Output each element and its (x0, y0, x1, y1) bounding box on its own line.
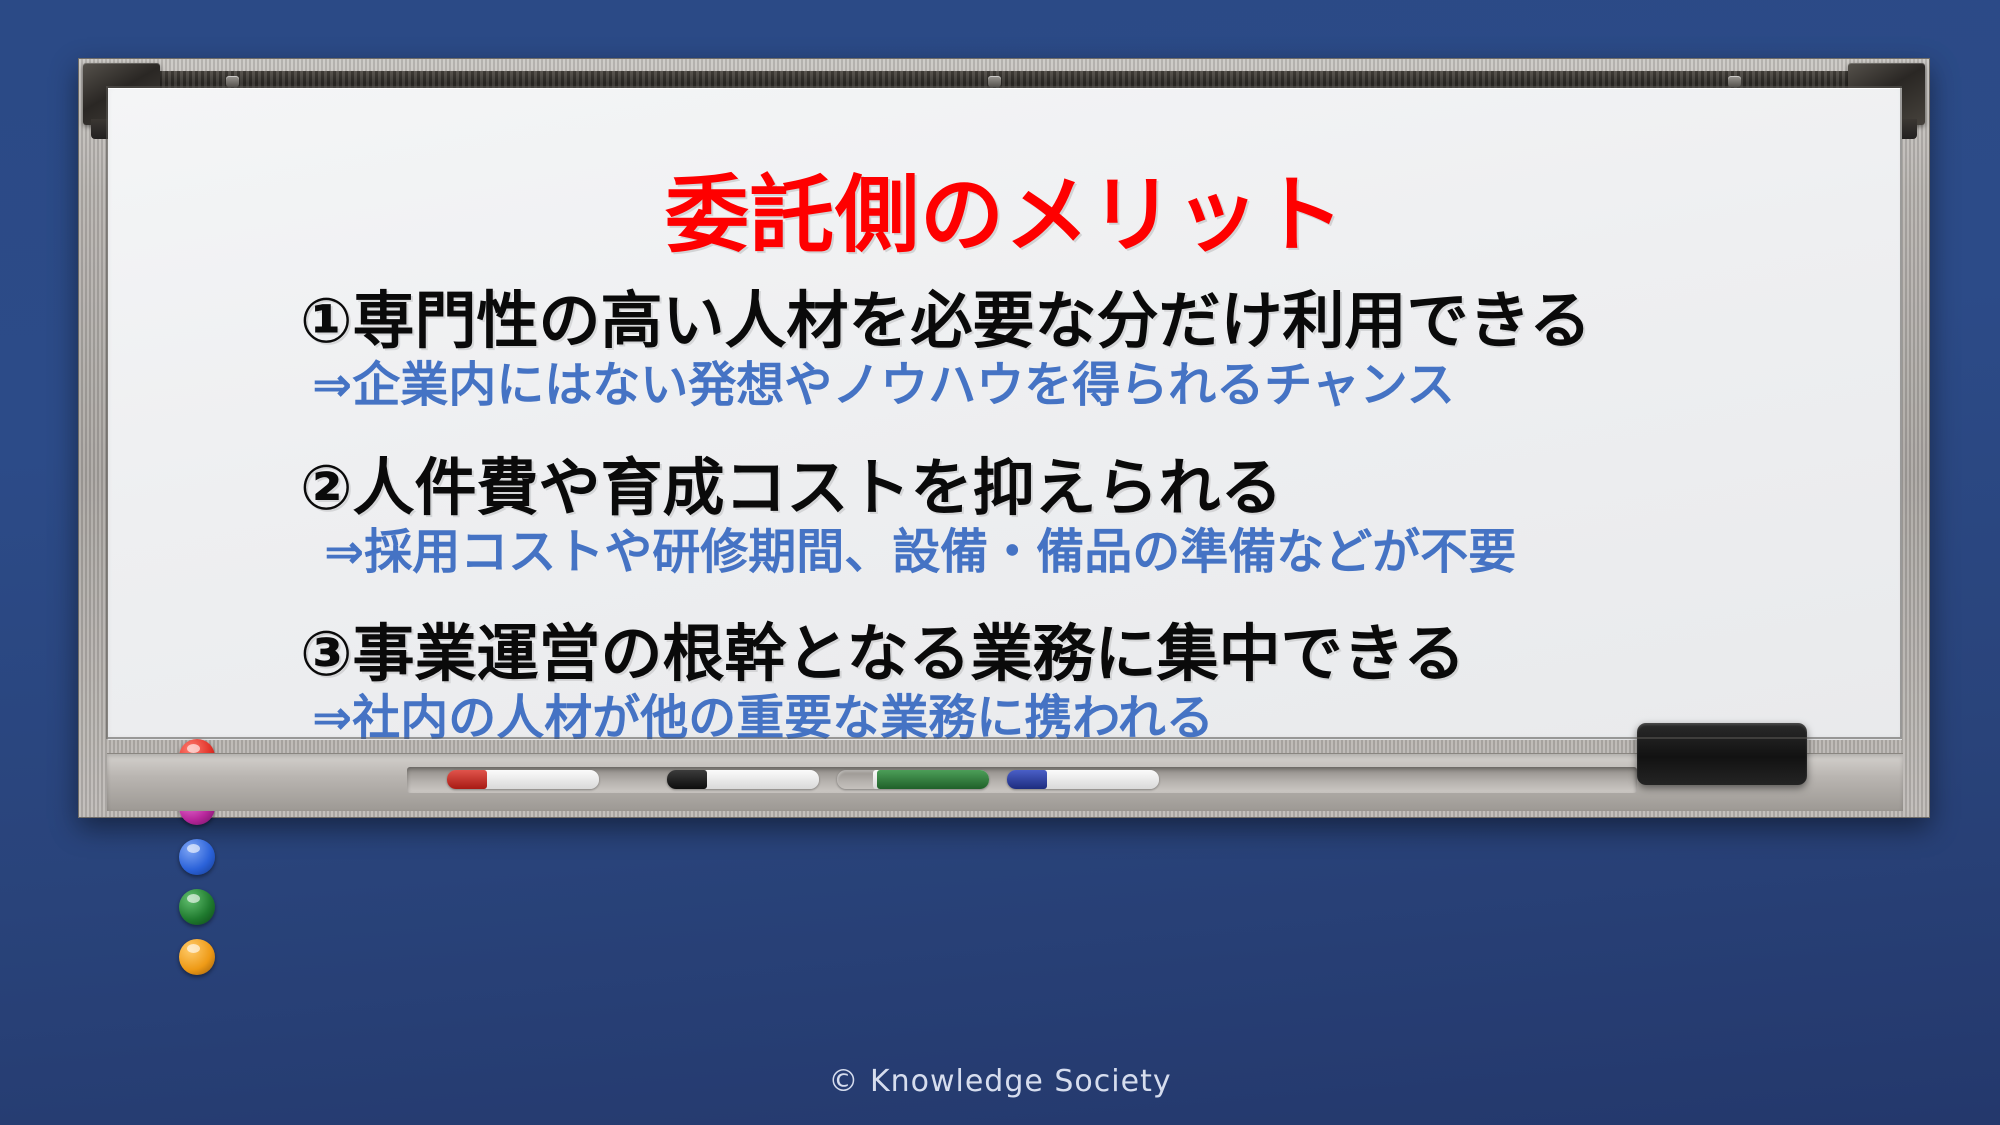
marker-body (1043, 770, 1159, 789)
slide-content: 委託側のメリット ①専門性の高い人材を必要な分だけ利用できる ⇒企業内にはない発… (108, 88, 1902, 740)
benefit-3-sub: ⇒社内の人材が他の重要な業務に携われる (312, 692, 1842, 740)
marker-body (703, 770, 819, 789)
marker-green-icon (837, 770, 989, 789)
list-item: ③事業運営の根幹となる業務に集中できる ⇒社内の人材が他の重要な業務に携われる (300, 621, 1842, 740)
marker-red-icon (447, 770, 599, 789)
benefit-list: ①専門性の高い人材を必要な分だけ利用できる ⇒企業内にはない発想やノウハウを得ら… (300, 288, 1842, 740)
magnet-blue-icon (179, 839, 215, 875)
rail-screw-center (988, 76, 1001, 87)
rail-screw-right (1728, 76, 1741, 87)
benefit-3-main: ③事業運営の根幹となる業務に集中できる (300, 621, 1842, 688)
magnet-orange-icon (179, 939, 215, 975)
marker-cap (1007, 770, 1047, 789)
list-item: ②人件費や育成コストを抑えられる ⇒採用コストや研修期間、設備・備品の準備などが… (300, 455, 1842, 580)
marker-black-icon (667, 770, 819, 789)
whiteboard-tray (107, 753, 1903, 811)
eraser-icon (1637, 723, 1807, 785)
whiteboard-frame: 委託側のメリット ①専門性の高い人材を必要な分だけ利用できる ⇒企業内にはない発… (78, 58, 1930, 818)
slide-canvas: 委託側のメリット ①専門性の高い人材を必要な分だけ利用できる ⇒企業内にはない発… (0, 0, 2000, 1125)
footer-copyright: © Knowledge Society (0, 1064, 2000, 1099)
magnet-green-icon (179, 889, 215, 925)
marker-cap (877, 770, 989, 789)
marker-body (483, 770, 599, 789)
benefit-2-main: ②人件費や育成コストを抑えられる (300, 455, 1842, 522)
marker-blue-icon (1007, 770, 1159, 789)
benefit-2-sub: ⇒採用コストや研修期間、設備・備品の準備などが不要 (324, 526, 1842, 580)
list-item: ①専門性の高い人材を必要な分だけ利用できる ⇒企業内にはない発想やノウハウを得ら… (300, 288, 1842, 413)
benefit-1-main: ①専門性の高い人材を必要な分だけ利用できる (300, 288, 1842, 355)
marker-cap (447, 770, 487, 789)
marker-cap (667, 770, 707, 789)
page-title: 委託側のメリット (108, 148, 1902, 269)
rail-screw-left (226, 76, 239, 87)
benefit-1-sub: ⇒企業内にはない発想やノウハウを得られるチャンス (312, 359, 1842, 413)
